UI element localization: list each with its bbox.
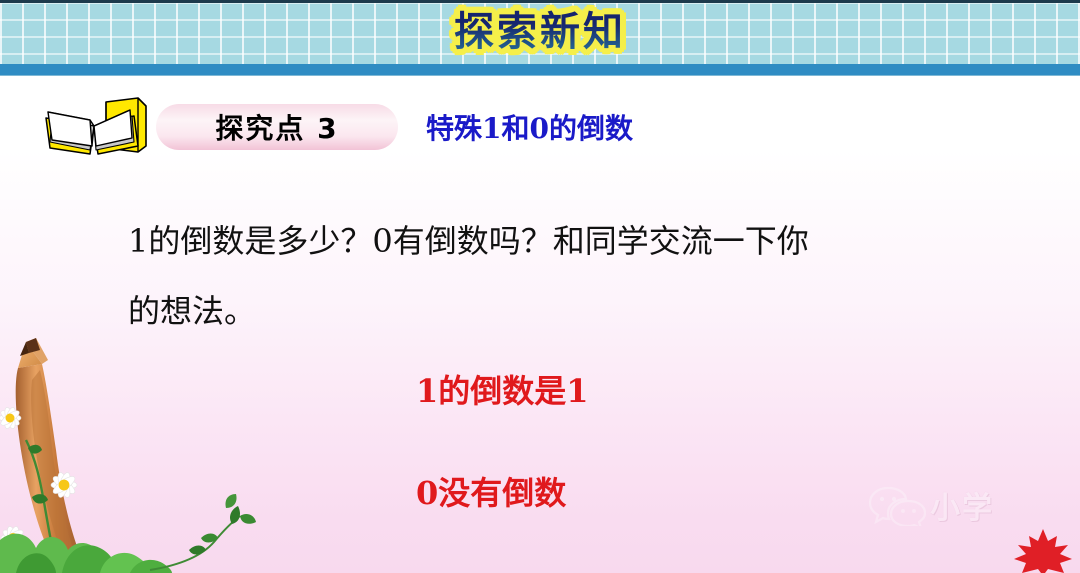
explore-point-subtitle: 特殊1和0的倒数 <box>426 107 633 147</box>
watermark: 小学 <box>868 483 994 527</box>
question-line-2: 的想法。 <box>128 276 978 346</box>
page-title: 探索新知 <box>0 3 1080 61</box>
open-book-icon <box>38 96 150 158</box>
watermark-label: 小学 <box>930 483 994 527</box>
slide-canvas: 探索新知 探究点 3 特殊1和0的倒数 1的倒数是多 <box>0 0 1080 573</box>
daisy-flower-icon <box>0 406 21 429</box>
explore-point-label: 探究点 3 <box>215 107 338 147</box>
maple-leaf-icon <box>1012 525 1074 573</box>
daisy-flower-icon <box>51 471 77 499</box>
answer-line-2: 0没有倒数 <box>416 468 589 514</box>
explore-point-pill: 探究点 3 <box>156 104 398 150</box>
wechat-icon <box>868 484 926 526</box>
answer-line-1: 1的倒数是1 <box>416 366 589 412</box>
daisy-flower-icon <box>1 525 26 551</box>
header-bottom-bar <box>0 64 1080 76</box>
answer-text: 1的倒数是1 0没有倒数 <box>416 366 589 514</box>
question-text: 1的倒数是多少？0有倒数吗？和同学交流一下你 的想法。 <box>128 206 978 346</box>
pencil-icon <box>0 330 146 573</box>
leaves-icon <box>0 478 330 573</box>
slide-header: 探索新知 <box>0 0 1080 76</box>
question-line-1: 1的倒数是多少？0有倒数吗？和同学交流一下你 <box>128 206 978 276</box>
explore-point-banner: 探究点 3 特殊1和0的倒数 <box>38 96 633 158</box>
